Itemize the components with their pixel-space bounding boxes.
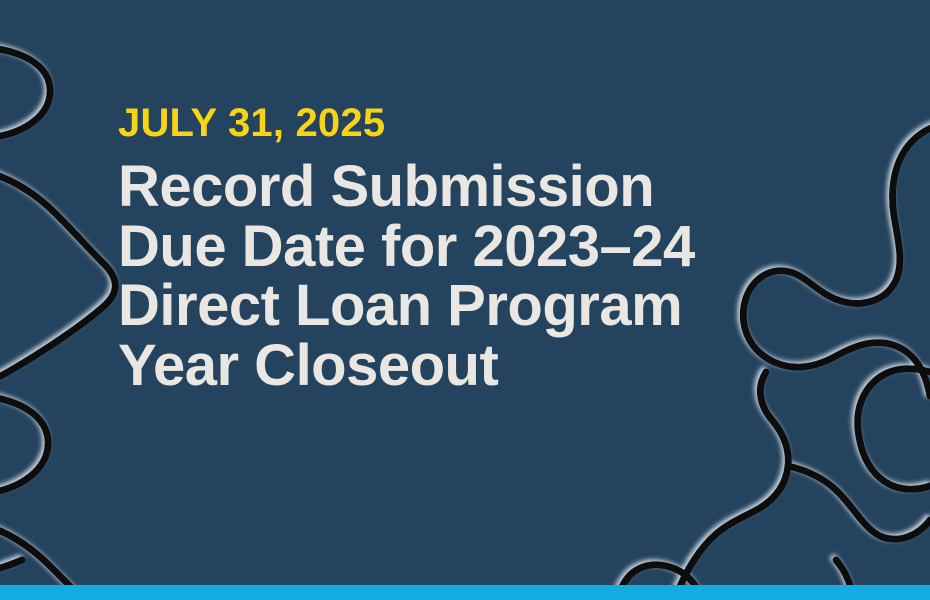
event-date: JULY 31, 2025 <box>118 103 908 143</box>
headline-line-1: Record Submission <box>118 157 908 217</box>
headline-line-2: Due Date for 2023–24 <box>118 217 908 277</box>
announcement-banner: JULY 31, 2025 Record Submission Due Date… <box>0 0 930 600</box>
headline: Record Submission Due Date for 2023–24 D… <box>118 157 908 396</box>
banner-content: JULY 31, 2025 Record Submission Due Date… <box>118 103 908 396</box>
headline-line-4: Year Closeout <box>118 336 908 396</box>
accent-bar <box>0 585 930 600</box>
headline-line-3: Direct Loan Program <box>118 276 908 336</box>
